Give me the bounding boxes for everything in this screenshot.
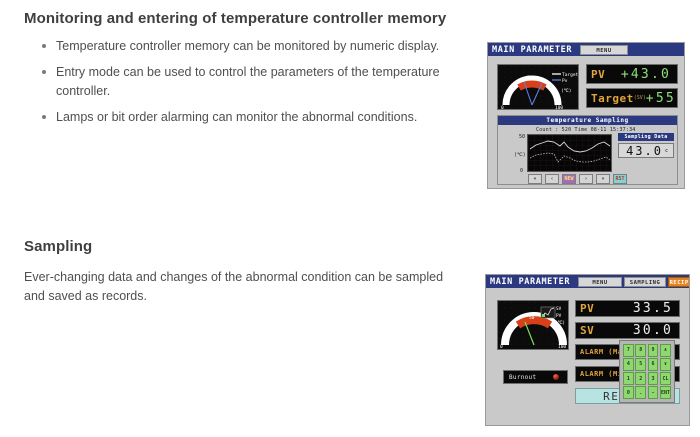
key-decimal-point[interactable]: .: [635, 386, 646, 399]
readout-sv-label: SV: [576, 324, 594, 337]
section-paragraph-sampling: Ever-changing data and changes of the ab…: [24, 268, 464, 306]
chart-y-bottom: 0: [520, 168, 523, 174]
readout-pv-value: +43.0: [605, 67, 677, 82]
hmi-tab-strip-2: MENU SAMPLING RECIPE: [574, 275, 690, 288]
section-title-sampling: Sampling: [24, 238, 464, 255]
gauge-max-label: 100: [555, 105, 563, 110]
key-5[interactable]: 5: [635, 358, 646, 371]
readout-pv-label: PV: [587, 68, 605, 81]
readout-target-value: +55.0: [646, 91, 678, 106]
sampling-data-label: Sampling Data: [618, 133, 674, 141]
key-minus[interactable]: -: [648, 386, 659, 399]
key-1[interactable]: 1: [623, 372, 634, 385]
hmi-screen-main-parameter-recipe[interactable]: MAIN PARAMETER MENU SAMPLING RECIPE: [485, 274, 690, 426]
key-enter[interactable]: ENT: [660, 386, 671, 399]
sampling-data-value: 43.0: [626, 144, 663, 158]
list-item: Lamps or bit order alarming can monitor …: [42, 108, 474, 127]
tab-menu-2[interactable]: MENU: [578, 277, 622, 287]
nav-prev-button[interactable]: ‹: [545, 174, 559, 184]
key-7[interactable]: 7: [623, 344, 634, 357]
gauge-legend-sv: SV: [556, 306, 562, 312]
sampling-nav-buttons: « ‹ NEW › » RST: [528, 174, 627, 184]
readout-pv: PV +43.0: [586, 64, 678, 84]
sampling-panel-header: Temperature Sampling: [498, 116, 677, 125]
key-4[interactable]: 4: [623, 358, 634, 371]
hmi-body-2: SV PV (℃) 0 50 100 Burnout PV 33.5: [486, 288, 689, 426]
gauge-widget: Target Pv (℃) 0 50 100: [497, 64, 579, 110]
gauge-min-label: 0: [501, 105, 504, 110]
gauge-widget-2: SV PV (℃) 0 50 100: [497, 300, 569, 350]
gauge-mid-label: 50: [527, 75, 533, 81]
page-title: Monitoring and entering of temperature c…: [24, 10, 474, 27]
key-8[interactable]: 8: [635, 344, 646, 357]
nav-reset-button[interactable]: RST: [613, 174, 627, 184]
readout-pv-label-2: PV: [576, 302, 594, 315]
hmi-title-bar: MAIN PARAMETER MENU: [488, 43, 684, 56]
hmi-title: MAIN PARAMETER: [488, 43, 576, 56]
sampling-trend-chart[interactable]: [527, 134, 612, 172]
hmi-body: Target Pv (℃) 0 50 100 PV +43.0 Target (…: [488, 56, 684, 189]
tab-menu[interactable]: MENU: [580, 45, 628, 55]
gauge-svg: Target Pv (℃) 0 50 100: [498, 65, 579, 110]
gauge-svg-2: SV PV (℃) 0 50 100: [498, 301, 569, 350]
readout-sv: SV 30.0: [575, 322, 680, 339]
key-6[interactable]: 6: [648, 358, 659, 371]
chart-y-top: 50: [519, 134, 525, 140]
key-up-arrow-icon[interactable]: ∧: [660, 344, 671, 357]
hmi-screen-main-parameter-sampling[interactable]: MAIN PARAMETER MENU: [487, 42, 685, 189]
trend-svg: [528, 135, 612, 172]
temperature-sampling-panel: Temperature Sampling Count : 520 Time 08…: [497, 115, 678, 185]
key-0[interactable]: 0: [623, 386, 634, 399]
hmi-title-2: MAIN PARAMETER: [486, 275, 574, 288]
burnout-led-icon: [553, 374, 559, 380]
readout-target: Target (SV) +55.0: [586, 88, 678, 108]
sampling-data-unit: c: [665, 148, 670, 154]
monitoring-bullet-list: Temperature controller memory can be mon…: [24, 37, 474, 127]
list-item: Temperature controller memory can be mon…: [42, 37, 474, 56]
readout-pv-2: PV 33.5: [575, 300, 680, 317]
page-root: Monitoring and entering of temperature c…: [0, 0, 700, 437]
section-monitoring: Monitoring and entering of temperature c…: [24, 10, 474, 134]
key-down-arrow-icon[interactable]: ∨: [660, 358, 671, 371]
readout-target-sublabel: (SV): [634, 95, 646, 101]
hmi-tab-strip: MENU: [576, 43, 628, 56]
gauge-unit-2: (℃): [555, 320, 565, 326]
burnout-label: Burnout: [509, 374, 536, 381]
gauge-legend-pv: Pv: [562, 78, 568, 84]
hmi-title-bar-2: MAIN PARAMETER MENU SAMPLING RECIPE: [486, 275, 689, 288]
readout-pv-value-2: 33.5: [594, 301, 679, 316]
sampling-data-value-box: 43.0 c: [618, 143, 674, 158]
readout-sv-value: 30.0: [594, 323, 679, 338]
key-9[interactable]: 9: [648, 344, 659, 357]
tab-sampling[interactable]: SAMPLING: [624, 277, 666, 287]
key-clear[interactable]: CL: [660, 372, 671, 385]
burnout-indicator: Burnout: [503, 370, 568, 384]
numeric-keypad[interactable]: 7 8 9 ∧ 4 5 6 ∨ 1 2 3 CL 0 . - ENT: [619, 340, 675, 403]
key-2[interactable]: 2: [635, 372, 646, 385]
nav-last-button[interactable]: »: [596, 174, 610, 184]
gauge-min-label-2: 0: [500, 344, 503, 350]
readout-target-label: Target: [587, 92, 634, 105]
list-item: Entry mode can be used to control the pa…: [42, 63, 474, 101]
chart-y-mid: (℃): [514, 152, 526, 158]
gauge-mid-label-2: 50: [529, 315, 535, 321]
gauge-max-label-2: 100: [558, 344, 566, 350]
tab-recipe[interactable]: RECIPE: [668, 277, 690, 287]
gauge-legend-pv-2: PV: [556, 313, 562, 319]
key-3[interactable]: 3: [648, 372, 659, 385]
nav-new-button[interactable]: NEW: [562, 174, 576, 184]
gauge-legend-target: Target: [562, 72, 579, 78]
section-sampling: Sampling Ever-changing data and changes …: [24, 238, 464, 306]
nav-first-button[interactable]: «: [528, 174, 542, 184]
nav-next-button[interactable]: ›: [579, 174, 593, 184]
gauge-unit: (℃): [561, 88, 571, 94]
